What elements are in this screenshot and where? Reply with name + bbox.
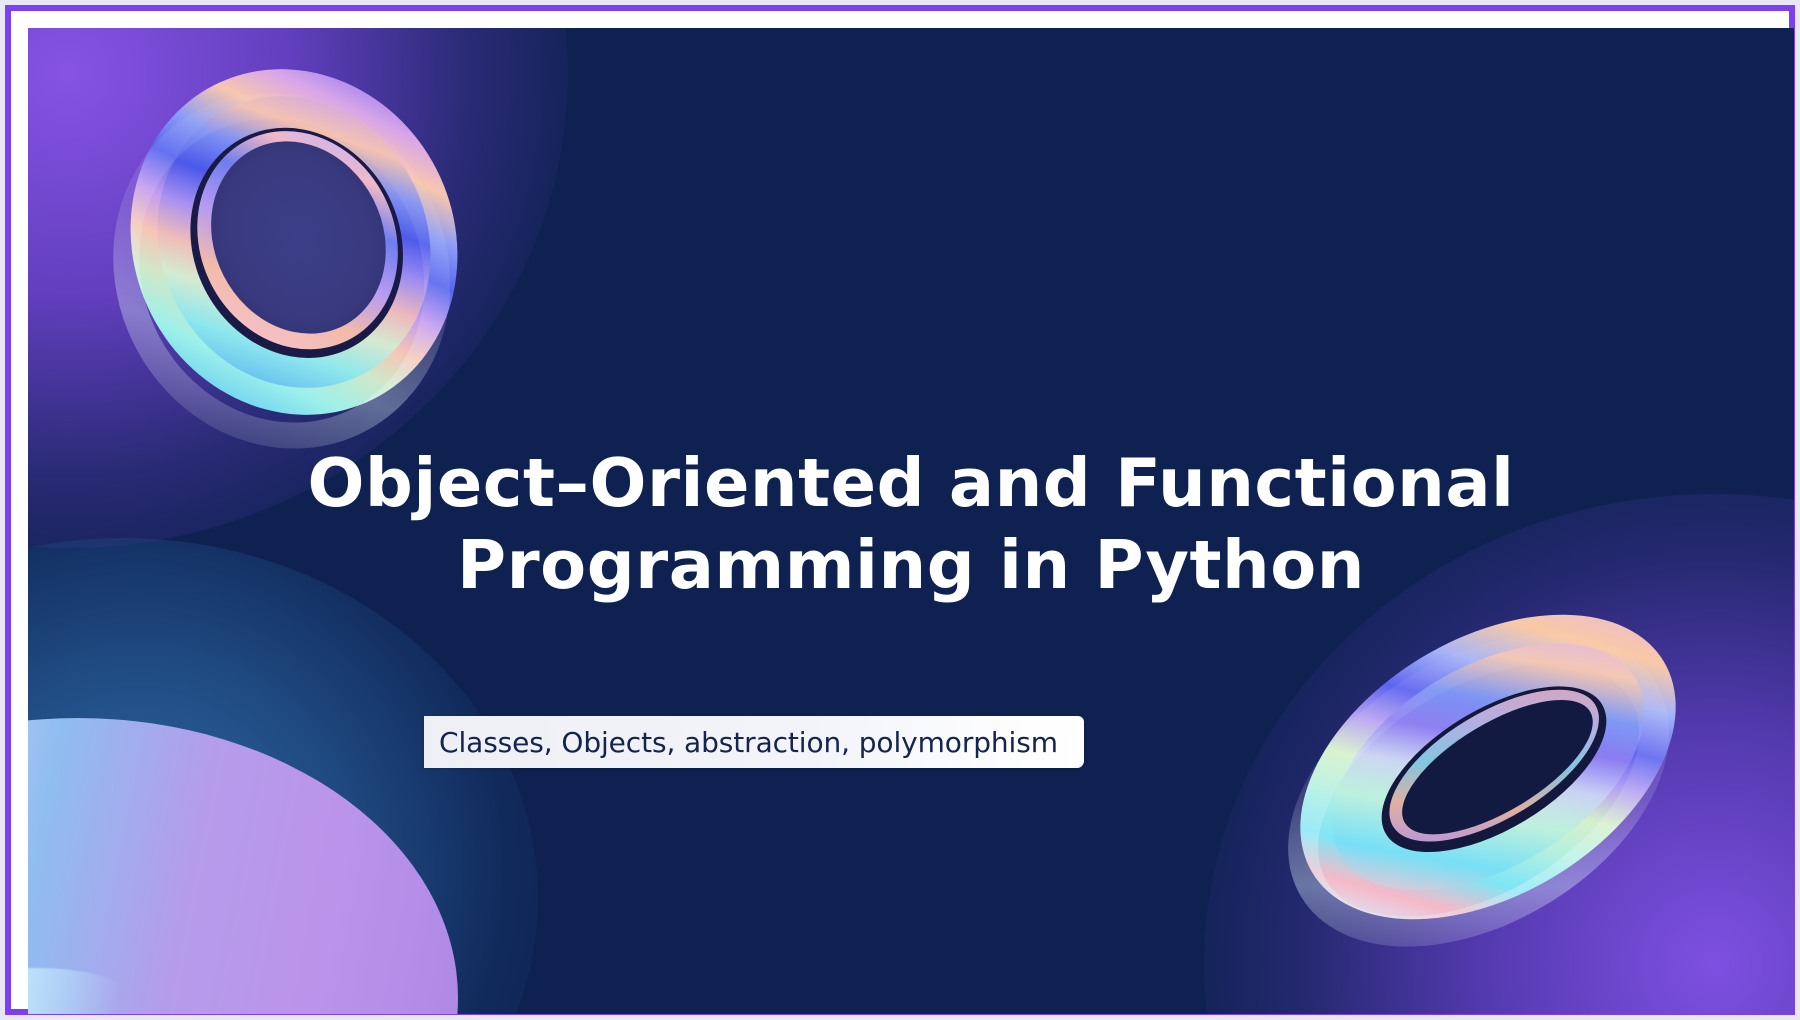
slide-frame-border: Object–Oriented and Functional Programmi… (5, 5, 1795, 1015)
torus-bottom-right-shape (1278, 606, 1698, 928)
title-line-2: Programming in Python (28, 525, 1794, 607)
slide-canvas: Object–Oriented and Functional Programmi… (28, 28, 1794, 1014)
title-line-1: Object–Oriented and Functional (28, 443, 1794, 525)
slide-subtitle-plate: Classes, Objects, abstraction, polymorph… (424, 716, 1084, 768)
slide-subtitle-text: Classes, Objects, abstraction, polymorph… (424, 726, 1058, 759)
slide-outer-margin: Object–Oriented and Functional Programmi… (0, 0, 1800, 1020)
torus-top-left-shape (120, 56, 468, 428)
slide-title: Object–Oriented and Functional Programmi… (28, 443, 1794, 606)
disc-bottom-left-shape (28, 718, 458, 1014)
